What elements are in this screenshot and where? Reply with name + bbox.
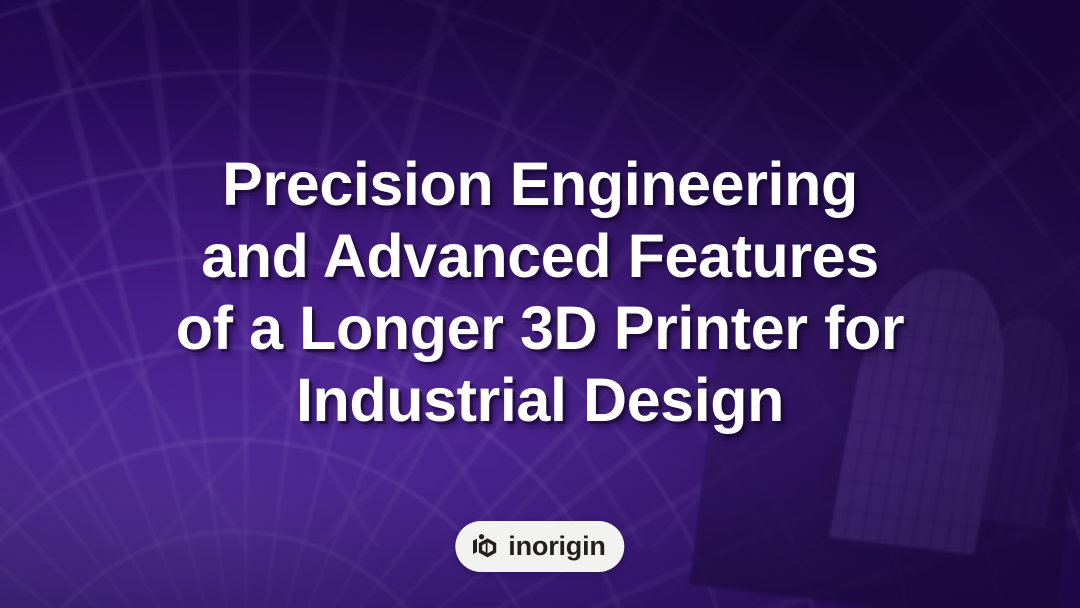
banner-content: Precision Engineering and Advanced Featu… xyxy=(0,0,1080,608)
article-banner: Precision Engineering and Advanced Featu… xyxy=(0,0,1080,608)
page-title: Precision Engineering and Advanced Featu… xyxy=(0,148,1080,436)
headline-line-3: of a Longer 3D Printer for xyxy=(46,292,1034,364)
headline-line-1: Precision Engineering xyxy=(46,148,1034,220)
headline-line-2: and Advanced Features xyxy=(46,220,1034,292)
headline-line-4: Industrial Design xyxy=(46,364,1034,436)
